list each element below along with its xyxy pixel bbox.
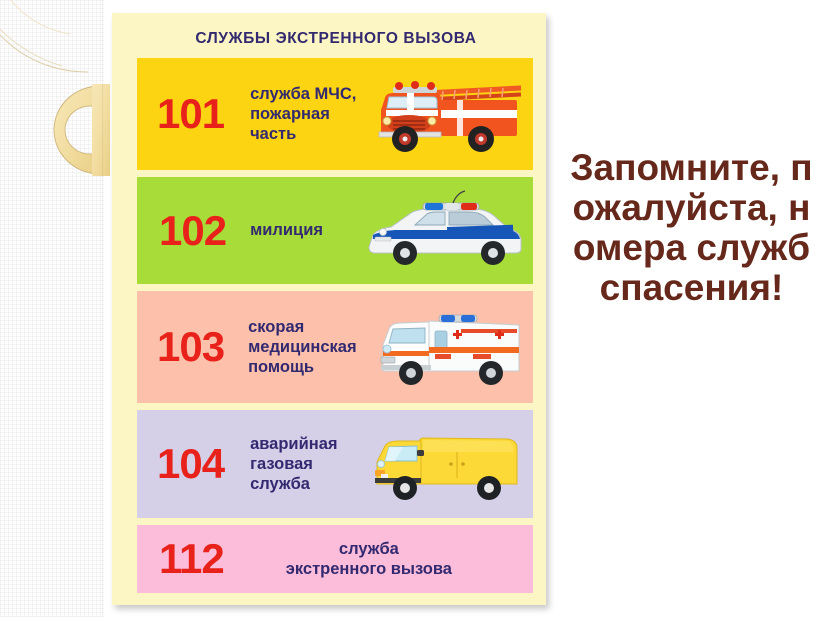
fire-truck-icon — [359, 58, 529, 170]
service-label: служба экстренного вызова — [286, 539, 452, 579]
ambulance-icon — [359, 291, 529, 403]
service-label: аварийная газовая служба — [250, 434, 337, 494]
service-label-line: помощь — [248, 357, 357, 377]
service-row-104: 104 аварийная газовая служба — [137, 410, 533, 518]
service-label-line: служба — [250, 474, 337, 494]
service-row-102: 102 милиция — [137, 177, 533, 284]
reminder-message: Запомните, пожалуйста, номера служб спас… — [565, 148, 818, 308]
service-number: 103 — [157, 326, 224, 368]
service-label-line: служба МЧС, — [250, 84, 356, 104]
service-number: 101 — [157, 93, 224, 135]
emergency-services-poster: СЛУЖБЫ ЭКСТРЕННОГО ВЫЗОВА 101 служба МЧС… — [112, 13, 546, 605]
service-number: 102 — [159, 210, 226, 252]
police-car-icon — [359, 177, 529, 284]
service-label-line: служба — [286, 539, 452, 559]
service-label: скорая медицинская помощь — [248, 317, 357, 377]
service-label-line: часть — [250, 124, 356, 144]
service-rows-list: 101 служба МЧС, пожарная часть — [137, 58, 533, 593]
decorative-left-strip — [0, 0, 104, 617]
service-row-101: 101 служба МЧС, пожарная часть — [137, 58, 533, 170]
service-label-line: скорая — [248, 317, 357, 337]
service-label: служба МЧС, пожарная часть — [250, 84, 356, 144]
gold-ring-icon — [54, 84, 110, 176]
page-title: СЛУЖБЫ ЭКСТРЕННОГО ВЫЗОВА — [112, 30, 546, 48]
service-label-line: газовая — [250, 454, 337, 474]
service-label-line: медицинская — [248, 337, 357, 357]
service-number: 112 — [159, 538, 224, 580]
thin-arc-icon — [0, 0, 88, 72]
service-label-line: аварийная — [250, 434, 337, 454]
service-label-line: экстренного вызова — [286, 559, 452, 579]
gas-service-van-icon — [359, 410, 529, 518]
service-label-line: милиция — [250, 220, 323, 240]
service-number: 104 — [157, 443, 224, 485]
service-row-103: 103 скорая медицинская помощь — [137, 291, 533, 403]
service-label: милиция — [250, 220, 323, 240]
decorative-flourish — [0, 0, 120, 240]
service-label-line: пожарная — [250, 104, 356, 124]
service-row-112: 112 служба экстренного вызова — [137, 525, 533, 593]
